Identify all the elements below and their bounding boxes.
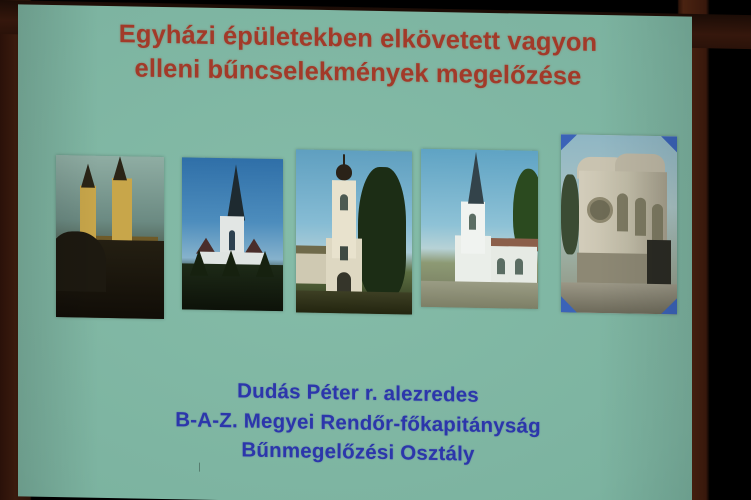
photo-3-belfry-window [340, 194, 348, 210]
presenter-credit: Dudás Péter r. alezredes B-A-Z. Megyei R… [48, 373, 668, 474]
photo-5-corner-bottom-right [661, 298, 677, 314]
photo-1-spire-left [81, 163, 95, 187]
photo-3-onion-dome [336, 164, 352, 180]
photo-2-tower-window [229, 230, 235, 250]
photo-5-rose-window [587, 197, 613, 223]
church-photo-5 [561, 134, 677, 314]
photo-2-conifer-b [222, 250, 240, 276]
photo-3-tower-window [340, 246, 348, 260]
church-photo-2 [182, 157, 283, 311]
photo-5-pavement [561, 282, 677, 314]
photo-5-arched-window-c [652, 204, 663, 242]
church-photo-1 [56, 155, 164, 319]
photo-3-ground [296, 290, 412, 314]
church-photo-4 [421, 149, 538, 309]
photo-3-finial [343, 154, 345, 166]
photo-5-arched-window-a [617, 193, 628, 231]
photo-5-shadowed-wall [647, 240, 671, 286]
photo-4-spire [468, 152, 484, 204]
photo-4-belfry-window [469, 214, 476, 230]
photo-4-nave-window-a [497, 258, 505, 274]
photo-3-large-tree [358, 167, 406, 298]
screen-dust-speck [199, 463, 200, 472]
photo-5-corner-top-left [561, 134, 577, 150]
slide-title: Egyházi épületekben elkövetett vagyon el… [48, 17, 668, 96]
church-photo-strip [36, 117, 686, 329]
photo-5-corner-bottom-left [561, 296, 577, 312]
presentation-slide: Egyházi épületekben elkövetett vagyon el… [18, 4, 692, 500]
photo-4-nave-window-b [515, 258, 523, 274]
church-photo-3 [296, 149, 412, 314]
screenshot-root: Egyházi épületekben elkövetett vagyon el… [0, 0, 751, 500]
photo-5-arched-window-b [635, 198, 646, 236]
photo-5-corner-top-right [661, 136, 677, 152]
projection-screen: Egyházi épületekben elkövetett vagyon el… [0, 0, 700, 500]
photo-3-aisle [296, 253, 330, 284]
photo-2-spire [227, 164, 245, 220]
photo-2-conifer-a [190, 249, 208, 275]
photo-2-conifer-c [256, 251, 274, 277]
photo-5-tree [561, 174, 579, 254]
photo-1-spire-right [113, 156, 127, 180]
photo-4-street [421, 281, 538, 309]
